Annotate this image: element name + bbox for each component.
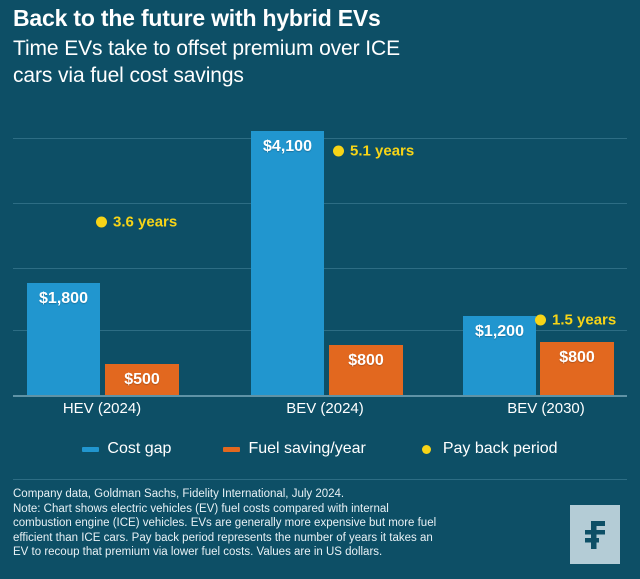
chart-infographic: Back to the future with hybrid EVs Time …: [0, 0, 640, 579]
marker-pay-back-bev-2030[interactable]: 1.5 years: [535, 312, 616, 329]
subtitle-line-1: Time EVs take to offset premium over ICE: [13, 37, 400, 60]
footnote-line-2: Note: Chart shows electric vehicles (EV)…: [13, 502, 548, 517]
bar-fuel-saving-bev-2030[interactable]: $800: [540, 342, 614, 395]
bar-value-label: $4,100: [251, 138, 324, 156]
legend-label: Fuel saving/year: [248, 440, 365, 458]
fidelity-f-logo-icon: [570, 505, 620, 564]
pay-back-dot-icon: [333, 146, 344, 157]
page-subtitle: Time EVs take to offset premium over ICE…: [13, 35, 627, 89]
bar-cost-gap-bev-2024[interactable]: $4,100: [251, 131, 324, 395]
bar-cost-gap-bev-2030[interactable]: $1,200: [463, 316, 536, 395]
bar-value-label: $1,800: [27, 290, 100, 308]
plot-area: $1,800 $500 3.6 years $4,100 $800 5.1 ye…: [13, 128, 627, 395]
bar-value-label: $800: [540, 349, 614, 367]
bar-fuel-saving-bev-2024[interactable]: $800: [329, 345, 403, 395]
bar-value-label: $1,200: [463, 323, 536, 341]
legend-dot-icon: [422, 445, 431, 454]
bar-value-label: $800: [329, 352, 403, 370]
bar-value-label: $500: [105, 371, 179, 389]
legend: Cost gap Fuel saving/year Pay back perio…: [0, 440, 640, 458]
footnote-line-5: EV to recoup that premium via lower fuel…: [13, 545, 548, 560]
legend-swatch-icon: [82, 447, 99, 452]
legend-item-fuel-saving[interactable]: Fuel saving/year: [223, 440, 365, 458]
subtitle-line-2: cars via fuel cost savings: [13, 64, 244, 87]
marker-pay-back-hev-2024[interactable]: 3.6 years: [96, 214, 177, 231]
legend-item-cost-gap[interactable]: Cost gap: [82, 440, 171, 458]
legend-label: Pay back period: [443, 440, 558, 458]
footer-divider: [13, 479, 627, 480]
marker-label: 5.1 years: [350, 143, 414, 160]
pay-back-dot-icon: [535, 315, 546, 326]
legend-item-pay-back[interactable]: Pay back period: [418, 440, 558, 458]
marker-label: 1.5 years: [552, 312, 616, 329]
pay-back-dot-icon: [96, 217, 107, 228]
x-axis-line: [13, 395, 627, 397]
x-axis-label-hev-2024: HEV (2024): [63, 400, 141, 417]
footnote: Company data, Goldman Sachs, Fidelity In…: [13, 487, 548, 560]
footnote-line-1: Company data, Goldman Sachs, Fidelity In…: [13, 487, 548, 502]
marker-label: 3.6 years: [113, 214, 177, 231]
x-axis-label-bev-2030: BEV (2030): [507, 400, 585, 417]
marker-pay-back-bev-2024[interactable]: 5.1 years: [333, 143, 414, 160]
legend-swatch-icon: [223, 447, 240, 452]
x-axis-label-bev-2024: BEV (2024): [286, 400, 364, 417]
footnote-line-4: efficient than ICE cars. Pay back period…: [13, 531, 548, 546]
footnote-line-3: combustion engine (ICE) vehicles. EVs ar…: [13, 516, 548, 531]
legend-label: Cost gap: [107, 440, 171, 458]
header: Back to the future with hybrid EVs Time …: [13, 4, 627, 89]
bar-fuel-saving-hev-2024[interactable]: $500: [105, 364, 179, 395]
page-title: Back to the future with hybrid EVs: [13, 4, 627, 32]
bar-cost-gap-hev-2024[interactable]: $1,800: [27, 283, 100, 395]
